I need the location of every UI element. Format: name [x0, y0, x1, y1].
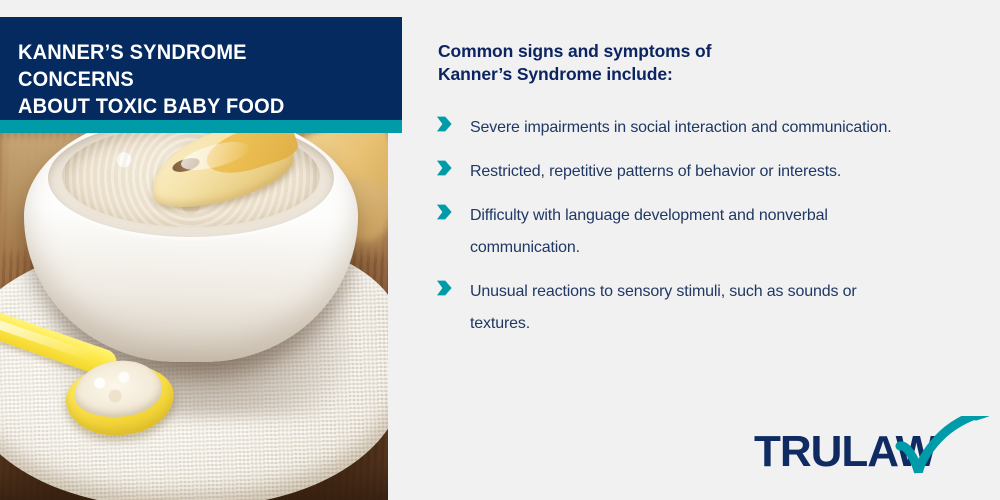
- list-item: Restricted, repetitive patterns of behav…: [436, 156, 956, 188]
- chevron-right-icon: [436, 204, 458, 220]
- list-item-label: Unusual reactions to sensory stimuli, su…: [470, 276, 902, 340]
- title-block: KANNER’S SYNDROME CONCERNS ABOUT TOXIC B…: [0, 17, 402, 120]
- accent-bar: [0, 120, 402, 133]
- hero-photo: [0, 133, 388, 500]
- infographic-canvas: KANNER’S SYNDROME CONCERNS ABOUT TOXIC B…: [0, 0, 1000, 500]
- trulaw-logo[interactable]: TRULAW: [754, 418, 984, 482]
- chevron-right-icon: [436, 160, 458, 176]
- list-item-label: Difficulty with language development and…: [470, 200, 902, 264]
- list-item-label: Severe impairments in social interaction…: [470, 112, 892, 144]
- page-title: KANNER’S SYNDROME CONCERNS ABOUT TOXIC B…: [18, 39, 357, 120]
- symptoms-heading: Common signs and symptoms of Kanner’s Sy…: [438, 40, 858, 86]
- checkmark-icon: [890, 416, 994, 480]
- chevron-right-icon: [436, 280, 458, 296]
- list-item: Difficulty with language development and…: [436, 200, 956, 264]
- list-item: Severe impairments in social interaction…: [436, 112, 956, 144]
- list-item-label: Restricted, repetitive patterns of behav…: [470, 156, 841, 188]
- chevron-right-icon: [436, 116, 458, 132]
- right-panel: Common signs and symptoms of Kanner’s Sy…: [402, 0, 1000, 500]
- left-panel: KANNER’S SYNDROME CONCERNS ABOUT TOXIC B…: [0, 0, 402, 500]
- symptoms-list: Severe impairments in social interaction…: [436, 112, 956, 352]
- list-item: Unusual reactions to sensory stimuli, su…: [436, 276, 956, 340]
